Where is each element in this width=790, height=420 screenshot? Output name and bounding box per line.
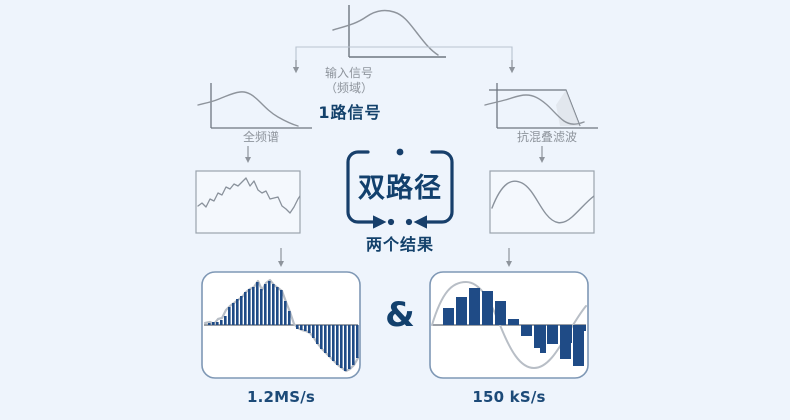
label-anti-alias: 抗混叠滤波 <box>492 130 602 145</box>
chart-clean-sine <box>490 171 594 233</box>
diagram-graphics <box>0 0 790 420</box>
dot-icon <box>388 219 394 225</box>
chart-full-spectrum <box>198 83 312 128</box>
label-two-results: 两个结果 <box>345 231 455 255</box>
connector-to-waveform-boxes <box>248 146 542 160</box>
chart-high-rate-sampling <box>202 272 360 378</box>
chart-noisy-waveform <box>196 171 300 233</box>
label-dual-path: 双路径 <box>345 166 455 205</box>
dot-icon <box>406 219 412 225</box>
chart-anti-alias-filter <box>485 83 598 128</box>
label-full-spectrum: 全频谱 <box>211 130 311 145</box>
label-input-signal: 输入信号 （频域） <box>299 66 399 96</box>
label-rate-left: 1.2MS/s <box>211 388 351 406</box>
label-ampersand: & <box>381 296 419 334</box>
label-input-signal-line2: （频域） <box>299 81 399 96</box>
diagram-canvas: 输入信号 （频域） 1路信号 全频谱 抗混叠滤波 双路径 两个结果 & 1.2M… <box>0 0 790 420</box>
dot-icon <box>397 149 404 156</box>
label-rate-right: 150 kS/s <box>439 388 579 406</box>
chart-low-rate-sampling <box>430 272 588 378</box>
label-one-path: 1路信号 <box>300 99 400 123</box>
label-input-signal-line1: 输入信号 <box>299 66 399 81</box>
chart-input-spectrum <box>333 5 446 57</box>
